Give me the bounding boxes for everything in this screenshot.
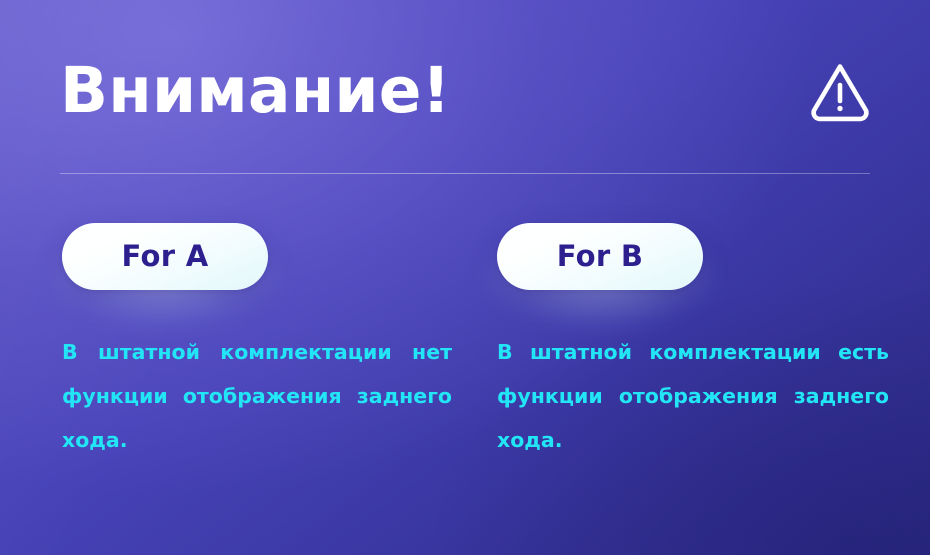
option-columns: For A В штатной комплектации нет функции… — [0, 0, 930, 555]
pill-wrapper-a: For A — [62, 223, 268, 290]
for-a-button-label: For A — [122, 242, 209, 271]
for-a-button[interactable]: For A — [62, 223, 268, 290]
option-column-b: For B В штатной комплектации есть функци… — [497, 223, 897, 483]
option-a-description: В штатной комплектации нет функции отобр… — [62, 330, 452, 462]
for-b-button[interactable]: For B — [497, 223, 703, 290]
for-b-button-label: For B — [557, 242, 644, 271]
warning-slide: Внимание! For A В штатной комплектации н… — [0, 0, 930, 555]
option-column-a: For A В штатной комплектации нет функции… — [62, 223, 462, 483]
option-b-description: В штатной комплектации есть функции отоб… — [497, 330, 889, 462]
pill-wrapper-b: For B — [497, 223, 703, 290]
